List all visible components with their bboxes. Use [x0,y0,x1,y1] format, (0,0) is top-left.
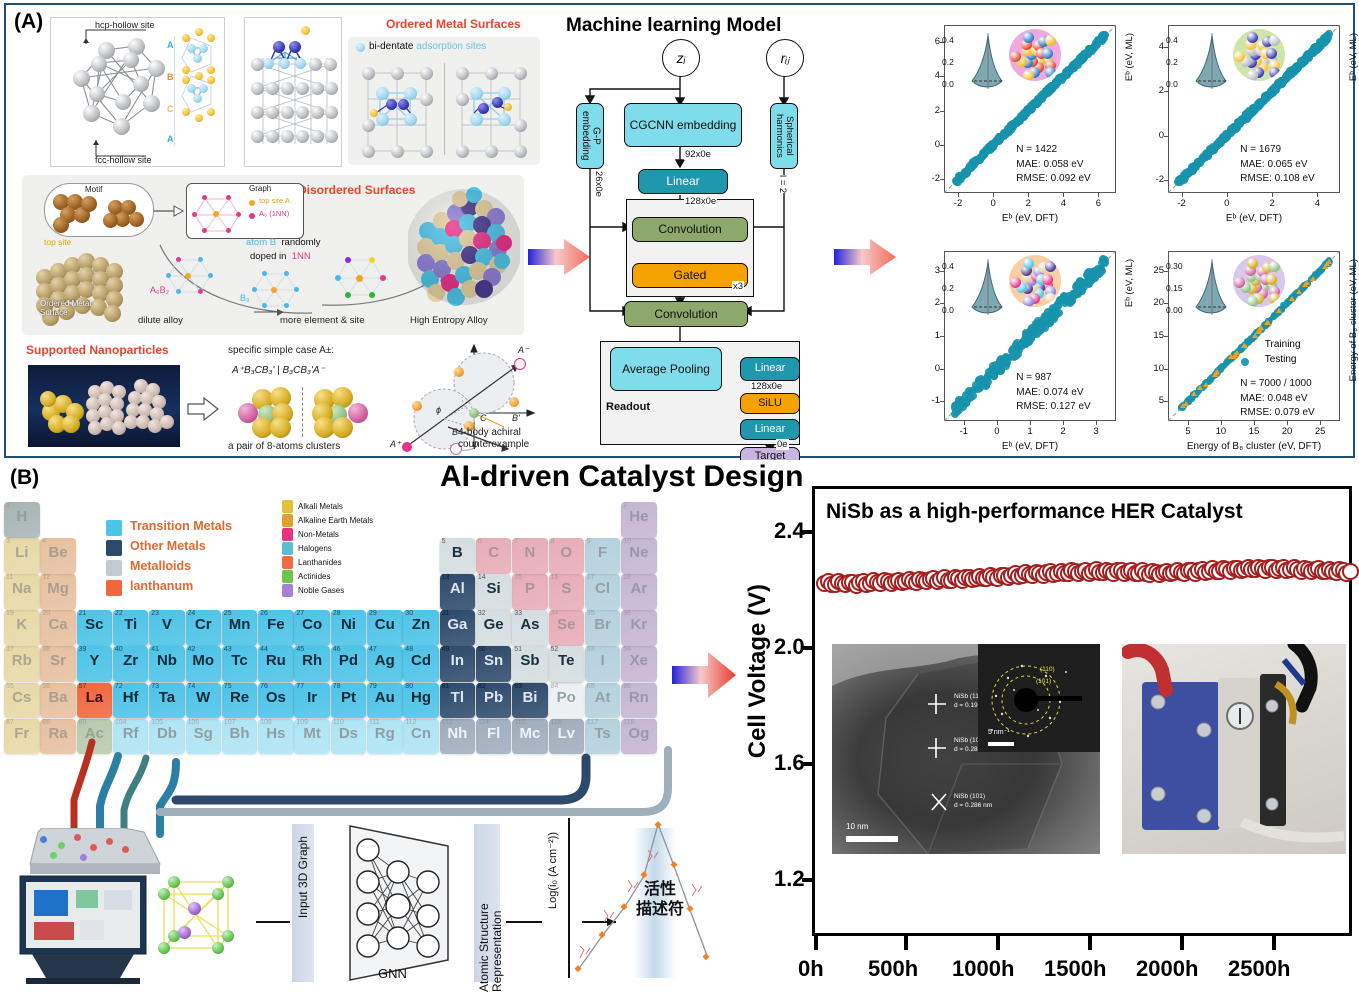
element-bi[interactable]: 83Bi [512,683,548,719]
element-symbol: Nb [149,652,185,669]
atomic-structure-label: Atomic Structure Representation [478,826,500,992]
element-symbol: Sg [186,725,222,742]
edge-label-target-in: 0e [776,439,789,450]
element-sg[interactable]: 106Sg [186,719,222,755]
plot-b8-cluster [1128,237,1350,457]
element-symbol: Ta [149,689,185,706]
element-symbol: Br [585,616,621,633]
element-w[interactable]: 74W [186,683,222,719]
element-sr[interactable]: 38Sr [40,646,76,682]
edge-label-readout-linear: 128x0e [750,381,783,392]
element-ni[interactable]: 28Ni [331,610,367,646]
element-symbol: Ti [113,616,149,633]
dope-text-line1: atom B randomly [246,237,320,248]
specific-case-label: specific simple case A±: [228,345,334,356]
element-mc[interactable]: 115Mc [512,719,548,755]
element-cn[interactable]: 112Cn [403,719,439,755]
element-rf[interactable]: 104Rf [113,719,149,755]
element-symbol: Cr [186,616,222,633]
element-symbol: S [549,580,585,597]
dope-highlight-atomb: atom B [246,237,276,248]
element-symbol: Se [549,616,585,633]
element-symbol: K [4,616,40,633]
formula-b9: B₉ [240,293,250,303]
ordered-metal-surface-cluster: Ordered Metal Surface [34,247,130,327]
legend-swatch-halogens [282,542,293,555]
element-cs[interactable]: 55Cs [4,683,40,719]
element-rb[interactable]: 37Rb [4,646,40,682]
edge-label-repeat: x3 [732,281,744,292]
element-symbol: Rg [367,725,403,742]
legend-label-metalloids: Metalloids [130,559,191,573]
element-symbol: Ru [258,652,294,669]
element-symbol: P [512,580,548,597]
more-element-label: more element & site [280,315,364,326]
element-i[interactable]: 53I [585,646,621,682]
bidentate-prefix: bi-dentate [369,41,413,52]
element-be[interactable]: 4Be [40,538,76,574]
graph-legend-top-site: top site A [259,196,290,205]
legend-swatch-actinides [282,570,293,583]
element-symbol: Li [4,544,40,561]
element-cl[interactable]: 17Cl [585,574,621,610]
element-au[interactable]: 79Au [367,683,403,719]
hcp-fcc-structure-box: hcp-hollow site fcc-hollow site A B C A [50,17,225,167]
element-ta[interactable]: 73Ta [149,683,185,719]
bidentate-suffix: adsorption sites [416,41,486,52]
cell-voltage-ylabel: Cell Voltage (V) [744,584,772,758]
element-symbol: Co [294,616,330,633]
input-3d-graph-label: Input 3D Graph [296,836,310,918]
element-mo[interactable]: 42Mo [186,646,222,682]
spherical-harmonics-block: Spherical harmonics [770,103,798,169]
element-sc[interactable]: 21Sc [77,610,113,646]
motif-label: Motif [85,185,102,194]
element-k[interactable]: 19K [4,610,40,646]
element-symbol: Ac [77,725,113,742]
element-symbol: Og [621,725,657,742]
element-symbol: Fe [258,616,294,633]
element-ca[interactable]: 20Ca [40,610,76,646]
element-symbol: Hf [113,689,149,706]
element-n[interactable]: 7N [512,538,548,574]
multielement-graph [332,255,388,303]
gp-embedding-block: G-P embedding [576,103,604,169]
element-symbol: Ag [367,652,403,669]
element-as[interactable]: 33As [512,610,548,646]
ytick-1-2: 1.2 [774,866,805,892]
saed-ring-110: (110) [1040,666,1055,673]
arrow-model-to-plots [834,235,898,279]
element-rg[interactable]: 111Rg [367,719,403,755]
plot-ordered-surface [1128,11,1350,229]
element-ts[interactable]: 117Ts [585,719,621,755]
element-zr[interactable]: 40Zr [113,646,149,682]
element-symbol: Bi [512,689,548,706]
legend-label-alkali-metals: Alkali Metals [298,502,343,511]
element-ra[interactable]: 88Ra [40,719,76,755]
element-symbol: Tc [222,652,258,669]
label-C: C [480,413,487,423]
element-ar[interactable]: 18Ar [621,574,657,610]
xtick-1500h: 1500h [1044,956,1106,982]
nanoparticle-photo [28,365,180,447]
element-symbol: Sn [476,652,512,669]
counterexample-line1: 4-body achiral [458,427,521,438]
element-symbol: Mg [40,580,76,597]
crystal-unit-cell [158,864,250,960]
silu-block: SiLU [740,393,800,414]
element-symbol: Ir [294,689,330,706]
element-bh[interactable]: 107Bh [222,719,258,755]
element-si[interactable]: 14Si [476,574,512,610]
element-symbol: Si [476,580,512,597]
edge-label-sph-out: l = 2 [776,175,789,193]
element-y[interactable]: 39Y [77,646,113,682]
element-mt[interactable]: 109Mt [294,719,330,755]
element-symbol: In [440,652,476,669]
slab-structure-box [244,17,342,167]
counterexample-line2: counterexample [458,439,529,450]
element-symbol: Ba [40,689,76,706]
element-symbol: C [476,544,512,561]
element-symbol: Ga [440,616,476,633]
legend-swatch-lanthanum [106,580,122,596]
element-symbol: Ra [40,725,76,742]
legend-swatch-alkaline-earth-metals [282,514,293,527]
label-A-minus: A⁻ [518,345,529,356]
bidentate-box: bi-dentate adsorption sites [348,37,540,165]
legend-swatch-transition-metals [106,520,122,536]
element-symbol: Be [40,544,76,561]
saed-inset: (110) (101) 5 nm⁻¹ [978,644,1100,752]
saed-ring-101: (101) [1036,678,1051,685]
element-te[interactable]: 52Te [549,646,585,682]
element-symbol: Bh [222,725,258,742]
element-re[interactable]: 75Re [222,683,258,719]
pair-caption: a pair of 8-atoms clusters [228,441,340,452]
edge-label-gp-out: 26x0e [592,171,605,197]
element-mn[interactable]: 25Mn [222,610,258,646]
lab-computer-graphic [14,828,164,988]
element-symbol: Lv [549,725,585,742]
legend-label-lanthanides: Lanthanides [298,558,342,567]
element-og[interactable]: 118Og [621,719,657,755]
motif-bubble: Motif [44,183,154,237]
panel-b: (B) AI-driven Catalyst Design 1H2He3Li4B… [0,460,1359,992]
element-os[interactable]: 76Os [258,683,294,719]
input-zi: zᵢ [662,39,700,77]
element-symbol: Cs [4,689,40,706]
element-nb[interactable]: 41Nb [149,646,185,682]
element-ti[interactable]: 22Ti [113,610,149,646]
element-ac[interactable]: 89Ac [77,719,113,755]
graph-label: Graph [249,184,271,193]
element-ge[interactable]: 32Ge [476,610,512,646]
element-symbol: N [512,544,548,561]
disordered-surfaces-box: Highly Disordered Surfaces Motif top sit… [22,175,524,335]
element-symbol: Sb [512,652,548,669]
element-symbol: Sr [40,652,76,669]
element-symbol: Rn [621,689,657,706]
bidentate-site-right [448,57,536,161]
element-hg[interactable]: 80Hg [403,683,439,719]
ml-model-diagram: Machine learning Model [554,9,834,457]
cluster-pair-left [238,383,296,439]
element-db[interactable]: 105Db [149,719,185,755]
element-sb[interactable]: 51Sb [512,646,548,682]
graph-legend-box: Graph top site A A₀ (1NN) [186,183,304,239]
graph-legend-1nn: A₀ (1NN) [259,209,289,218]
legend-label-transition-metals: Transition Metals [130,519,232,533]
saed-scalebar-label: 5 nm⁻¹ [988,728,1010,736]
element-fe[interactable]: 26Fe [258,610,294,646]
element-symbol: Cl [585,580,621,597]
element-na[interactable]: 11Na [4,574,40,610]
element-symbol: Pd [331,652,367,669]
edge-label-linear-out: 128x0e [684,196,717,207]
label-phi: ϕ [436,405,441,415]
element-cd[interactable]: 48Cd [403,646,439,682]
element-mg[interactable]: 12Mg [40,574,76,610]
legend-label-lanthanum: lanthanum [130,579,193,593]
element-cu[interactable]: 29Cu [367,610,403,646]
element-li[interactable]: 3Li [4,538,40,574]
element-pt[interactable]: 78Pt [331,683,367,719]
element-symbol: F [585,544,621,561]
element-zn[interactable]: 30Zn [403,610,439,646]
element-f[interactable]: 9F [585,538,621,574]
readout-label: Readout [606,401,650,413]
element-symbol: Pb [476,689,512,706]
element-symbol: Y [77,652,113,669]
element-symbol: Mo [186,652,222,669]
element-symbol: H [4,508,40,525]
element-symbol: Ni [331,616,367,633]
linear-block-3: Linear [740,419,800,440]
xtick-2500h: 2500h [1228,956,1290,982]
tem-image: NiSb (110)d = 0.195 nm NiSb (101)d = 0.2… [832,644,1100,854]
legend-label-halogens: Halogens [298,544,332,553]
gnn-label: GNN [378,966,407,981]
element-symbol: Cn [403,725,439,742]
element-symbol: Db [149,725,185,742]
element-po[interactable]: 84Po [549,683,585,719]
element-symbol: Ar [621,580,657,597]
convolution-block-2: Convolution [624,301,748,327]
element-ru[interactable]: 44Ru [258,646,294,682]
element-symbol: Zr [113,652,149,669]
voltage-data-point [1342,563,1359,580]
legend-swatch-alkali-metals [282,500,293,513]
element-co[interactable]: 27Co [294,610,330,646]
element-se[interactable]: 34Se [549,610,585,646]
element-symbol: As [512,616,548,633]
periodic-legend-side: Alkali MetalsAlkaline Earth MetalsNon-Me… [282,500,472,608]
panel-a-letter: (A) [14,10,43,34]
cluster-pair-right [310,383,368,439]
element-rh[interactable]: 45Rh [294,646,330,682]
hea-label: High Entropy Alloy [410,315,488,326]
element-symbol: Os [258,689,294,706]
element-c[interactable]: 6C [476,538,512,574]
element-pb[interactable]: 82Pb [476,683,512,719]
ytick-2-4: 2.4 [774,518,805,544]
element-in[interactable]: 49In [440,646,476,682]
element-ne[interactable]: 10Ne [621,538,657,574]
top-site-label: top site [44,237,71,247]
b9-graph [250,269,302,313]
element-ga[interactable]: 31Ga [440,610,476,646]
element-symbol: Ts [585,725,621,742]
element-hf[interactable]: 72Hf [113,683,149,719]
average-pooling-block: Average Pooling [610,347,722,391]
element-symbol: Sc [77,616,113,633]
xtick-2000h: 2000h [1136,956,1198,982]
element-symbol: W [186,689,222,706]
plot-hea [904,237,1126,457]
dope-highlight-1nn: 1NN [292,251,311,262]
legend-label-non-metals: Non-Metals [298,530,339,539]
element-nh[interactable]: 113Nh [440,719,476,755]
plot-volcano: Log(i₀ (A cm⁻²)) 活性 描述符 [540,818,720,990]
tem-label-2: NiSb (101)d = 0.286 nm [954,792,992,810]
element-symbol: Cd [403,652,439,669]
element-o[interactable]: 8O [549,538,585,574]
element-symbol: Fr [4,725,40,742]
ytick-1-6: 1.6 [774,750,805,776]
element-kr[interactable]: 36Kr [621,610,657,646]
element-symbol: La [77,689,113,706]
element-ag[interactable]: 47Ag [367,646,403,682]
panel-b-letter: (B) [10,466,39,490]
element-symbol: Ds [331,725,367,742]
element-symbol: Po [549,689,585,706]
element-sn[interactable]: 50Sn [476,646,512,682]
input-rij: rᵢⱼ [766,39,804,77]
element-ir[interactable]: 77Ir [294,683,330,719]
element-symbol: Ca [40,616,76,633]
element-fl[interactable]: 114Fl [476,719,512,755]
plot-cell-voltage: Cell Voltage (V) NiSb as a high-performa… [756,474,1356,986]
edge-label-cgcnn-out: 92x0e [684,149,712,160]
element-symbol: I [585,652,621,669]
element-symbol: Ne [621,544,657,561]
element-pd[interactable]: 46Pd [331,646,367,682]
element-symbol: At [585,689,621,706]
nanoparticle-formula: A⁺B₃CB₃' | B₃CB₃'A⁻ [232,365,325,376]
element-symbol: Hs [258,725,294,742]
volcano-annotation: 活性 描述符 [636,880,684,920]
element-la[interactable]: 57La [77,683,113,719]
element-br[interactable]: 35Br [585,610,621,646]
element-p[interactable]: 15P [512,574,548,610]
xtick-500h: 500h [868,956,918,982]
element-h[interactable]: 1H [4,502,40,538]
element-symbol: Kr [621,616,657,633]
linear-block-1: Linear [638,169,728,194]
element-symbol: Cu [367,616,403,633]
bidentate-site-left [354,57,442,161]
label-B-prime: B' [512,413,520,423]
arrow-to-her-results [672,648,738,702]
convolution-block-1: Convolution [632,217,748,242]
element-symbol: Rh [294,652,330,669]
element-ds[interactable]: 110Ds [331,719,367,755]
element-symbol: Na [4,580,40,597]
legend-swatch-noble-gases [282,584,293,597]
legend-label-actinides: Actinides [298,572,330,581]
dope-text-line2: doped in 1NN [250,251,311,262]
element-symbol: Rb [4,652,40,669]
xtick-1000h: 1000h [952,956,1014,982]
ytick-2-0: 2.0 [774,634,805,660]
legend-label-other-metals: Other Metals [130,539,206,553]
element-symbol: Te [549,652,585,669]
element-symbol: Tl [440,689,476,706]
electrolyzer-photo [1122,644,1346,854]
panel-a: (A) hcp-hollow site fcc-hol [4,3,1355,458]
element-tc[interactable]: 43Tc [222,646,258,682]
element-symbol: Rf [113,725,149,742]
ordered-metal-surfaces-title: Ordered Metal Surfaces [386,17,521,31]
legend-swatch-other-metals [106,540,122,556]
element-he[interactable]: 2He [621,502,657,538]
element-symbol: Ge [476,616,512,633]
element-ba[interactable]: 56Ba [40,683,76,719]
legend-swatch-non-metals [282,528,293,541]
high-entropy-alloy-particle [408,185,520,311]
element-symbol: Xe [621,652,657,669]
element-at[interactable]: 85At [585,683,621,719]
cgcnn-embedding-block: CGCNN embedding [624,103,742,147]
element-symbol: Mt [294,725,330,742]
ordered-surface-label: Ordered Metal Surface [40,299,112,317]
element-symbol: Mn [222,616,258,633]
element-lv[interactable]: 116Lv [549,719,585,755]
xtick-0h: 0h [798,956,824,982]
element-symbol: Mc [512,725,548,742]
gated-block: Gated [632,263,748,288]
tem-scalebar-label: 10 nm [846,822,868,831]
panel-b-title: AI-driven Catalyst Design [440,460,803,494]
element-symbol: V [149,616,185,633]
element-cr[interactable]: 24Cr [186,610,222,646]
element-rn[interactable]: 86Rn [621,683,657,719]
element-tl[interactable]: 81Tl [440,683,476,719]
periodic-legend-main: Transition MetalsOther MetalsMetalloidsl… [106,520,306,606]
element-v[interactable]: 23V [149,610,185,646]
element-symbol: O [549,544,585,561]
plot-ordered-cluster [904,11,1126,229]
legend-label-alkaline-earth-metals: Alkaline Earth Metals [298,516,373,525]
element-fr[interactable]: 87Fr [4,719,40,755]
linear-block-2: Linear [740,357,800,381]
element-s[interactable]: 16S [549,574,585,610]
element-symbol: Pt [331,689,367,706]
element-hs[interactable]: 108Hs [258,719,294,755]
legend-swatch-lanthanides [282,556,293,569]
element-symbol: Hg [403,689,439,706]
legend-swatch-metalloids [106,560,122,576]
dilute-graph [164,255,216,299]
label-A-plus: A⁺ [390,439,401,450]
supported-nanoparticles-title: Supported Nanoparticles [26,343,169,357]
element-symbol: Fl [476,725,512,742]
element-xe[interactable]: 54Xe [621,646,657,682]
gnn-graphic: GNN [324,820,470,986]
element-symbol: Re [222,689,258,706]
